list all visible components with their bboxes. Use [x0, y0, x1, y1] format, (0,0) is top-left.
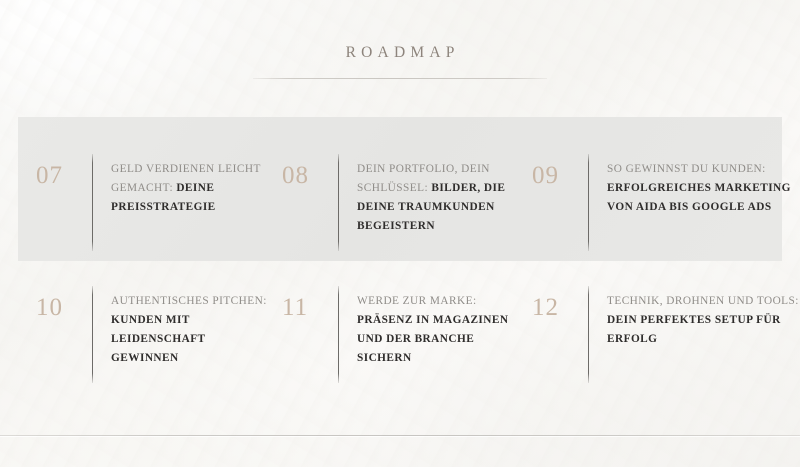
roadmap-item-09: 09 SO GEWINNST DU KUNDEN: ERFOLGREICHES … — [518, 150, 800, 251]
roadmap-item-10: 10 AUTHENTISCHES PITCHEN: KUNDEN MIT LEI… — [0, 282, 268, 383]
roadmap-row-top: 07 GELD VERDIENEN LEICHT GEMACHT: DEINE … — [0, 150, 800, 251]
footer-divider-highlight — [0, 436, 800, 437]
roadmap-row-bottom: 10 AUTHENTISCHES PITCHEN: KUNDEN MIT LEI… — [0, 282, 800, 383]
title-divider — [253, 78, 547, 79]
roadmap-item-text-light: AUTHENTISCHES PITCHEN: — [111, 295, 267, 307]
roadmap-item-text-light: SO GEWINNST DU KUNDEN: — [607, 163, 766, 175]
roadmap-item-number: 11 — [282, 282, 338, 320]
roadmap-item-text: GELD VERDIENEN LEICHT GEMACHT: DEINE PRE… — [93, 150, 268, 217]
roadmap-item-text: WERDE ZUR MARKE: PRÄSENZ IN MAGAZINEN UN… — [339, 282, 518, 368]
roadmap-item-08: 08 DEIN PORTFOLIO, DEIN SCHLÜSSEL: BILDE… — [268, 150, 518, 251]
roadmap-item-text: DEIN PORTFOLIO, DEIN SCHLÜSSEL: BILDER, … — [339, 150, 518, 236]
roadmap-item-text-strong: DEIN PERFEKTES SETUP FÜR ERFOLG — [607, 314, 781, 345]
roadmap-item-number: 08 — [282, 150, 338, 188]
roadmap-item-text-strong: PRÄSENZ IN MAGAZINEN UND DER BRANCHE SIC… — [357, 314, 508, 364]
roadmap-item-number: 10 — [36, 282, 92, 320]
roadmap-item-text: TECHNIK, DROHNEN UND TOOLS: DEIN PERFEKT… — [589, 282, 800, 349]
roadmap-item-text: AUTHENTISCHES PITCHEN: KUNDEN MIT LEIDEN… — [93, 282, 268, 368]
roadmap-item-text-strong: KUNDEN MIT LEIDENSCHAFT GEWINNEN — [111, 314, 205, 364]
slide-header: ROADMAP — [0, 44, 800, 62]
roadmap-item-number: 09 — [532, 150, 588, 188]
slide-canvas: ROADMAP 07 GELD VERDIENEN LEICHT GEMACHT… — [0, 0, 800, 467]
roadmap-item-text-light: WERDE ZUR MARKE: — [357, 295, 477, 307]
roadmap-item-text-strong: ERFOLGREICHES MARKETING VON AIDA BIS GOO… — [607, 182, 791, 213]
roadmap-item-text-light: TECHNIK, DROHNEN UND TOOLS: — [607, 295, 799, 307]
page-title: ROADMAP — [340, 44, 459, 62]
roadmap-item-07: 07 GELD VERDIENEN LEICHT GEMACHT: DEINE … — [0, 150, 268, 251]
roadmap-item-text: SO GEWINNST DU KUNDEN: ERFOLGREICHES MAR… — [589, 150, 800, 217]
roadmap-item-number: 12 — [532, 282, 588, 320]
roadmap-item-number: 07 — [36, 150, 92, 188]
roadmap-item-12: 12 TECHNIK, DROHNEN UND TOOLS: DEIN PERF… — [518, 282, 800, 383]
roadmap-item-11: 11 WERDE ZUR MARKE: PRÄSENZ IN MAGAZINEN… — [268, 282, 518, 383]
